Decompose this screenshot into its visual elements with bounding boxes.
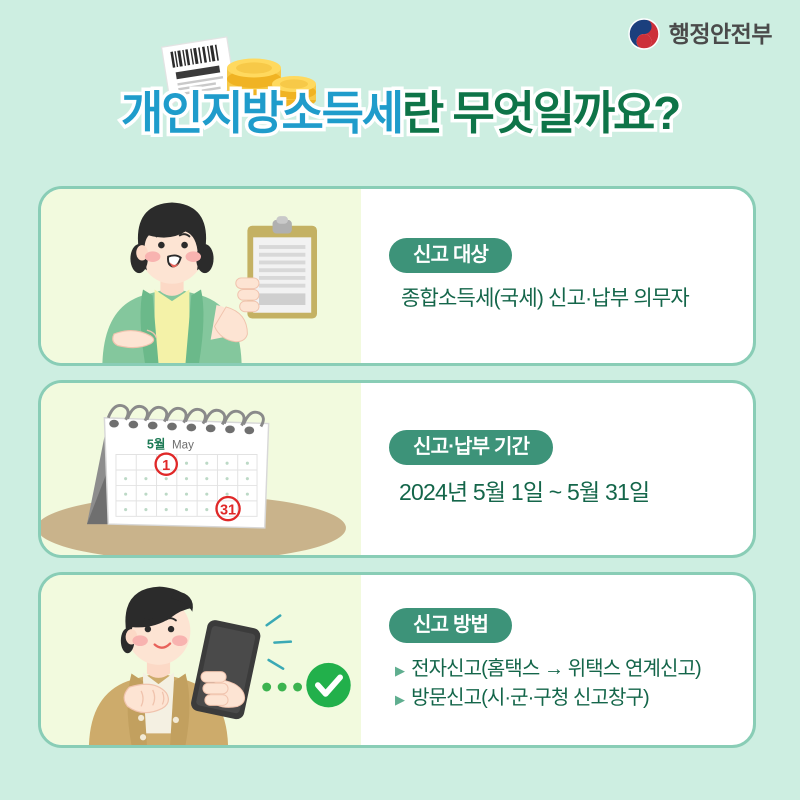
info-card-report-target: 신고 대상 종합소득세(국세) 신고·납부 의무자 [38,186,756,366]
report-method-list: ▶ 전자신고(홈택스 → 위택스 연계신고) ▶ 방문신고(시·군·구청 신고창… [389,655,753,713]
card-text-area: 신고 방법 ▶ 전자신고(홈택스 → 위택스 연계신고) ▶ 방문신고(시·군·… [351,575,753,745]
desk-calendar-illustration: 5월 May 1 [41,383,361,555]
title-zone: 개인지방소득세란 무엇일까요? [0,28,800,158]
card-text-area: 신고·납부 기간 2024년 5월 1일 ~ 5월 31일 [351,383,753,555]
info-card-report-method: 신고 방법 ▶ 전자신고(홈택스 → 위택스 연계신고) ▶ 방문신고(시·군·… [38,572,756,748]
list-item-label: 전자신고(홈택스 → 위택스 연계신고) [411,655,701,684]
card-badge-report-period: 신고·납부 기간 [389,430,553,465]
page-title: 개인지방소득세란 무엇일까요? [0,90,800,136]
card-illustration-area [41,189,361,363]
calendar-month-en: May [172,440,194,452]
list-item: ▶ 전자신고(홈택스 → 위택스 연계신고) [395,655,753,684]
triangle-bullet-icon: ▶ [395,693,404,706]
card-badge-report-target: 신고 대상 [389,238,512,273]
woman-with-clipboard-illustration [41,189,361,363]
card-body-text-report-period: 2024년 5월 1일 ~ 5월 31일 [389,477,753,508]
check-circle-icon [306,663,350,707]
card-badge-report-method: 신고 방법 [389,608,512,643]
list-item-label: 방문신고(시·군·구청 신고창구) [411,684,649,713]
card-body-text-report-target: 종합소득세(국세) 신고·납부 의무자 [389,285,753,313]
page-title-part-blue: 개인지방소득세 [121,87,402,139]
calendar-marked-end: 31 [220,502,236,518]
list-item: ▶ 방문신고(시·군·구청 신고창구) [395,684,753,713]
triangle-bullet-icon: ▶ [395,664,404,677]
info-card-report-period: 5월 May 1 [38,380,756,558]
page-title-part-green: 란 무엇일까요? [402,87,679,139]
man-with-smartphone-illustration [41,575,361,745]
calendar-marked-start: 1 [162,458,170,474]
card-illustration-area [41,575,361,745]
card-illustration-area: 5월 May 1 [41,383,361,555]
card-text-area: 신고 대상 종합소득세(국세) 신고·납부 의무자 [351,189,753,363]
calendar-month-ko: 5월 [147,437,166,452]
